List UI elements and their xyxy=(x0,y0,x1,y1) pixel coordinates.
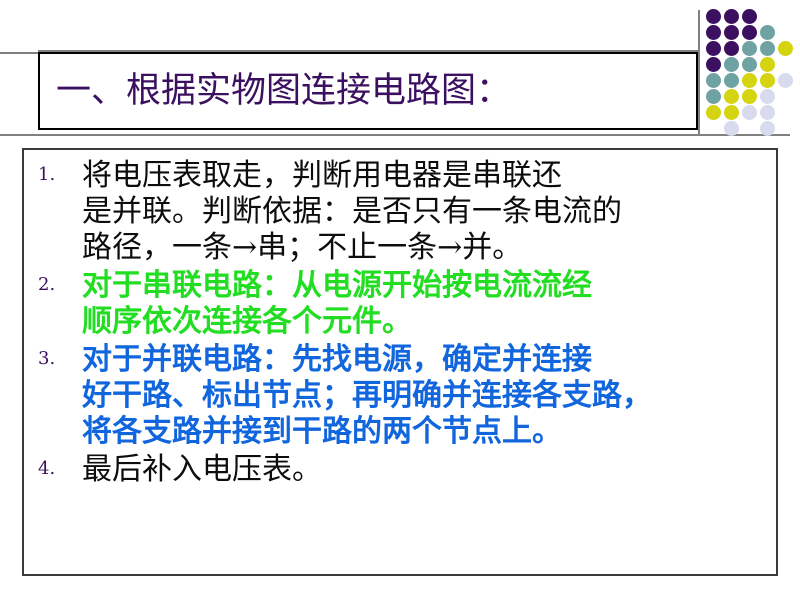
decor-dot-teal xyxy=(760,25,775,40)
list-item-text: 对于并联电路：先找电源，确定并连接 好干路、标出节点；再明确并连接各支路， 将各… xyxy=(82,342,770,450)
title-box: 一、根据实物图连接电路图： xyxy=(38,52,698,130)
decor-horizontal-rule-bottom xyxy=(0,134,790,136)
list-item: 1.将电压表取走，判断用电器是串联还 是并联。判断依据：是否只有一条电流的 路径… xyxy=(30,158,770,266)
list-item-text: 最后补入电压表。 xyxy=(82,452,770,488)
decor-dot-lavender xyxy=(760,89,775,104)
decor-dot-purple xyxy=(742,25,757,40)
decor-dot-yellow xyxy=(724,89,739,104)
decor-dot-lavender xyxy=(742,105,757,120)
decor-dot-purple xyxy=(706,41,721,56)
decor-dot-yellow xyxy=(724,105,739,120)
decor-dot-purple xyxy=(724,9,739,24)
decor-dot-lavender xyxy=(724,121,739,136)
decor-dot-purple xyxy=(706,57,721,72)
decor-dot-yellow xyxy=(760,73,775,88)
decor-dot-yellow xyxy=(778,41,793,56)
list-item: 3.对于并联电路：先找电源，确定并连接 好干路、标出节点；再明确并连接各支路， … xyxy=(30,342,770,450)
list-item-number: 3. xyxy=(38,348,55,369)
page-title: 一、根据实物图连接电路图： xyxy=(40,74,511,109)
decor-dot-purple xyxy=(706,25,721,40)
decor-dot-teal xyxy=(760,41,775,56)
list-item-number: 1. xyxy=(38,164,55,185)
decor-dot-lavender xyxy=(778,73,793,88)
decor-dot-teal xyxy=(706,73,721,88)
list-item-text: 将电压表取走，判断用电器是串联还 是并联。判断依据：是否只有一条电流的 路径，一… xyxy=(82,158,770,266)
decor-dot-teal xyxy=(742,57,757,72)
decor-dot-teal xyxy=(742,41,757,56)
decor-dot-teal xyxy=(724,57,739,72)
decor-dot-yellow xyxy=(706,105,721,120)
list-item-text: 对于串联电路：从电源开始按电流流经 顺序依次连接各个元件。 xyxy=(82,268,770,340)
decorative-dot-grid xyxy=(700,0,800,140)
decor-dot-purple xyxy=(742,9,757,24)
content-box: 1.将电压表取走，判断用电器是串联还 是并联。判断依据：是否只有一条电流的 路径… xyxy=(22,148,778,576)
slide-canvas: 一、根据实物图连接电路图： 1.将电压表取走，判断用电器是串联还 是并联。判断依… xyxy=(0,0,800,600)
list-item-number: 2. xyxy=(38,274,55,295)
decor-dot-lavender xyxy=(760,121,775,136)
instruction-list: 1.将电压表取走，判断用电器是串联还 是并联。判断依据：是否只有一条电流的 路径… xyxy=(30,158,770,488)
decor-dot-lavender xyxy=(760,105,775,120)
decor-dot-purple xyxy=(724,25,739,40)
list-item-number: 4. xyxy=(38,458,55,479)
decor-dot-purple xyxy=(706,9,721,24)
decor-dot-yellow xyxy=(760,57,775,72)
decor-dot-teal xyxy=(706,89,721,104)
list-item: 2.对于串联电路：从电源开始按电流流经 顺序依次连接各个元件。 xyxy=(30,268,770,340)
decor-dot-yellow xyxy=(742,73,757,88)
decor-dot-teal xyxy=(724,73,739,88)
list-item: 4.最后补入电压表。 xyxy=(30,452,770,488)
decor-dot-purple xyxy=(724,41,739,56)
decor-horizontal-rule-top xyxy=(0,52,40,54)
decor-dot-yellow xyxy=(742,89,757,104)
